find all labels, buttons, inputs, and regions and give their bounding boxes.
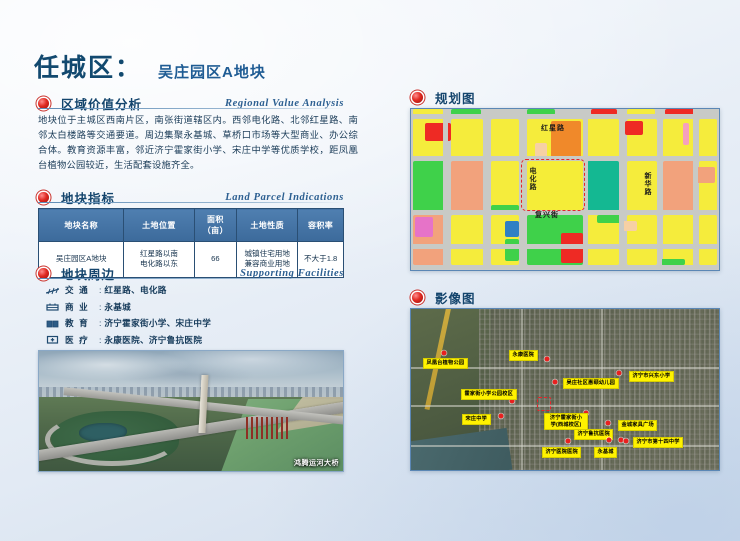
poi-label[interactable]: 济宁市兴东小学 <box>629 371 674 382</box>
facility-label: 交 通 <box>65 284 99 296</box>
section-header-plan-map: 规划图 <box>412 88 476 107</box>
plan-land-block <box>451 215 485 265</box>
site-boundary-outline <box>521 159 585 211</box>
section-header-supporting: 地块周边 Supporting Facilities <box>38 264 344 283</box>
page-title: 任城区： 吴庄园区A地块 <box>34 48 266 84</box>
plan-land-block <box>587 119 619 157</box>
satellite-road <box>521 309 523 470</box>
poi-marker-dot[interactable] <box>442 351 447 356</box>
poi-label[interactable]: 霍家街小学公园校区 <box>461 389 517 400</box>
plan-land-block <box>625 121 643 135</box>
section-title-region-value: 区域价值分析 <box>61 94 142 113</box>
plan-land-block <box>699 215 717 265</box>
facility-label: 医 疗 <box>65 334 99 346</box>
plan-land-block <box>545 217 561 263</box>
facility-label: 教 育 <box>65 317 99 329</box>
plan-road <box>411 244 718 249</box>
poi-label[interactable]: 永基城 <box>594 447 617 458</box>
medical-cross-icon <box>46 335 59 344</box>
planning-map[interactable]: 红星路电化路复兴街新华路 <box>410 108 720 271</box>
plan-land-block <box>491 161 519 211</box>
plan-land-block <box>663 215 695 265</box>
bullet-icon <box>412 92 423 103</box>
facility-row-commerce: 商 业 : 永基城 <box>46 301 356 313</box>
poi-label[interactable]: 济宁市第十四中学 <box>633 437 683 448</box>
poi-marker-dot[interactable] <box>545 357 550 362</box>
plan-land-block <box>589 163 619 211</box>
facility-colon: : <box>99 285 101 295</box>
facility-row-education: 教 育 : 济宁霍家街小学、宋庄中学 <box>46 317 356 329</box>
poi-marker-dot[interactable] <box>617 371 622 376</box>
plan-land-block <box>623 221 637 231</box>
satellite-map[interactable]: 凤凰台植物公园永康医院吴庄社区惠颐幼儿园济宁市兴东小学霍家街小学公园校区宋庄中学… <box>410 308 720 471</box>
plan-land-block <box>661 259 685 265</box>
poi-label[interactable]: 凤凰台植物公园 <box>423 358 468 369</box>
poi-label[interactable]: 金城家具广场 <box>618 420 657 431</box>
plan-land-block <box>505 221 519 237</box>
table-header-row: 地块名称 土地位置 面积（亩） 土地性质 容积率 <box>39 209 344 242</box>
plan-land-block <box>683 123 689 145</box>
plan-land-block <box>697 167 715 183</box>
facility-colon: : <box>99 318 101 328</box>
col-header-area: 面积（亩） <box>194 209 237 242</box>
plan-land-block <box>451 119 483 157</box>
book-icon <box>46 319 59 328</box>
col-header-far: 容积率 <box>298 209 344 242</box>
poi-marker-dot[interactable] <box>624 439 629 444</box>
section-header-land-indicators: 地块指标 Land Parcel Indications <box>38 188 344 207</box>
cell-location-line1: 红星路以南 <box>126 249 191 259</box>
col-header-nature: 土地性质 <box>237 209 298 242</box>
poi-label[interactable]: 吴庄社区惠颐幼儿园 <box>563 378 619 389</box>
plan-land-block <box>491 119 519 157</box>
section-header-image-map: 影像图 <box>412 288 476 307</box>
title-main: 任城区： <box>34 48 142 84</box>
facility-colon: : <box>99 302 101 312</box>
shopping-bag-icon <box>46 302 59 311</box>
facility-value: 红星路、电化路 <box>104 284 166 296</box>
bullet-icon <box>412 292 423 303</box>
facility-value: 永基城 <box>104 301 131 313</box>
region-value-paragraph: 地块位于主城区西南片区，南张街道辖区内。西邻电化路、北邻红星路、南邻太白楼路等交… <box>38 113 358 173</box>
facility-colon: : <box>99 335 101 345</box>
col-header-name: 地块名称 <box>39 209 124 242</box>
plan-land-block <box>505 239 519 261</box>
plan-land-block <box>451 161 485 211</box>
plan-land-block <box>413 161 445 211</box>
section-title-image-map: 影像图 <box>435 288 476 307</box>
poi-marker-dot[interactable] <box>566 439 571 444</box>
plan-street-label: 新华路 <box>642 172 652 196</box>
facility-value: 济宁霍家街小学、宋庄中学 <box>104 317 211 329</box>
col-header-location: 土地位置 <box>124 209 194 242</box>
plan-road <box>411 114 718 119</box>
poi-marker-dot[interactable] <box>499 414 504 419</box>
plan-land-block <box>663 161 695 211</box>
site-boundary-outline <box>537 397 551 411</box>
aerial-photo: 鸿腾运河大桥 <box>38 350 344 472</box>
plan-street-label: 红星路 <box>541 123 565 133</box>
section-title-plan-map: 规划图 <box>435 88 476 107</box>
facility-label: 商 业 <box>65 301 99 313</box>
facility-row-medical: 医 疗 : 永康医院、济宁鲁抗医院 <box>46 334 356 346</box>
poi-marker-dot[interactable] <box>607 438 612 443</box>
section-rule-supporting <box>38 278 344 279</box>
facility-value: 永康医院、济宁鲁抗医院 <box>104 334 202 346</box>
satellite-road <box>411 405 719 407</box>
section-title-land-indicators: 地块指标 <box>61 188 115 207</box>
photo-caption: 鸿腾运河大桥 <box>294 458 339 468</box>
facility-row-transport: 交 通 : 红星路、电化路 <box>46 284 356 296</box>
poi-label[interactable]: 济宁医院医院 <box>542 447 581 458</box>
plan-land-block <box>415 217 433 237</box>
poi-label[interactable]: 济宁霍家街小学(西城校区) <box>544 413 588 430</box>
plan-land-block <box>663 119 695 157</box>
title-sub: 吴庄园区A地块 <box>158 61 266 84</box>
plan-land-block <box>699 119 717 157</box>
plan-land-block <box>535 143 547 157</box>
section-header-region-value: 区域价值分析 Regional Value Analysis <box>38 94 344 113</box>
cell-nature-line1: 城镇住宅用地 <box>239 249 295 259</box>
poi-marker-dot[interactable] <box>606 421 611 426</box>
section-rule-region-value <box>38 108 344 109</box>
bridge-road-icon <box>46 286 59 295</box>
satellite-road <box>601 309 603 470</box>
poi-label[interactable]: 永康医院 <box>509 350 538 361</box>
photo-red-structure <box>246 417 289 439</box>
poi-label[interactable]: 宋庄中学 <box>462 414 491 425</box>
poi-marker-dot[interactable] <box>553 380 558 385</box>
plan-street-label: 复兴街 <box>535 210 559 220</box>
section-title-supporting: 地块周边 <box>61 264 115 283</box>
section-rule-land-indicators <box>38 202 344 203</box>
